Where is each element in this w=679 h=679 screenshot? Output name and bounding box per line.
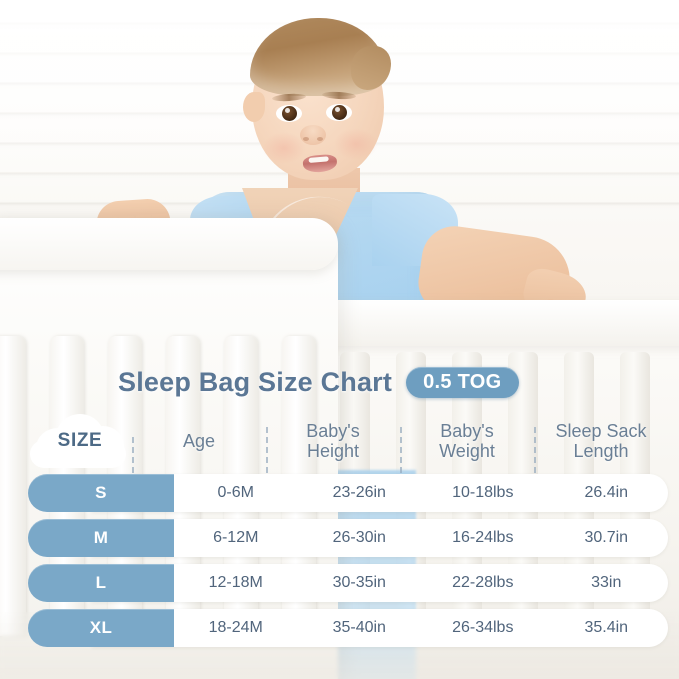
size-badge: S [28,474,174,512]
column-header-height-line2: Height [307,441,359,461]
cell-length: 26.4in [545,474,669,512]
column-divider [400,427,402,473]
column-header-height-line1: Baby's [306,421,359,441]
column-header-baby-height: Baby's Height [266,421,400,461]
table-row: L 12-18M 30-35in 22-28lbs 33in [16,564,668,602]
size-column-cloud: SIZE [28,412,132,470]
cell-height: 26-30in [298,519,422,557]
cell-age: 18-24M [174,609,298,647]
baby-ear [243,92,265,122]
column-header-size: SIZE [58,430,103,452]
tog-rating-badge: 0.5 TOG [406,367,518,398]
baby-eye-right [326,104,352,121]
cell-height: 23-26in [298,474,422,512]
cell-height: 35-40in [298,609,422,647]
cell-weight: 26-34lbs [421,609,545,647]
table-row: S 0-6M 23-26in 10-18lbs 26.4in [16,474,668,512]
baby-cheek-right [334,128,378,160]
cell-age: 6-12M [174,519,298,557]
cell-height: 30-35in [298,564,422,602]
baby-nose [300,125,326,145]
column-header-weight-line1: Baby's [440,421,493,441]
column-header-baby-weight: Baby's Weight [400,421,534,461]
table-row: XL 18-24M 35-40in 26-34lbs 35.4in [16,609,668,647]
chart-header: Sleep Bag Size Chart 0.5 TOG [0,360,679,404]
product-size-chart-image: ellymoni Slee [0,0,679,679]
cell-length: 35.4in [545,609,669,647]
cell-weight: 16-24lbs [421,519,545,557]
crib-front-rail [0,218,338,270]
cell-length: 30.7in [545,519,669,557]
page-title: Sleep Bag Size Chart [118,367,392,398]
table-header-row: SIZE Age Baby's Height Baby's Wei [16,408,668,474]
column-header-length-line1: Sleep Sack [555,421,646,441]
baby-hair [250,18,387,96]
cell-weight: 22-28lbs [421,564,545,602]
column-header-length-line2: Length [573,441,628,461]
column-divider [266,427,268,473]
size-chart-table: SIZE Age Baby's Height Baby's Wei [16,408,668,654]
column-header-age-line1: Age [183,431,215,451]
size-badge: L [28,564,174,602]
column-header-sleep-sack-length: Sleep Sack Length [534,421,668,461]
column-header-weight-line2: Weight [439,441,495,461]
column-divider [534,427,536,473]
baby-eye-left [276,105,302,122]
size-badge: M [28,519,174,557]
cell-length: 33in [545,564,669,602]
cell-age: 12-18M [174,564,298,602]
cell-age: 0-6M [174,474,298,512]
cell-weight: 10-18lbs [421,474,545,512]
column-header-age: Age [132,431,266,451]
crib-back-rail [330,300,679,346]
table-row: M 6-12M 26-30in 16-24lbs 30.7in [16,519,668,557]
size-badge: XL [28,609,174,647]
